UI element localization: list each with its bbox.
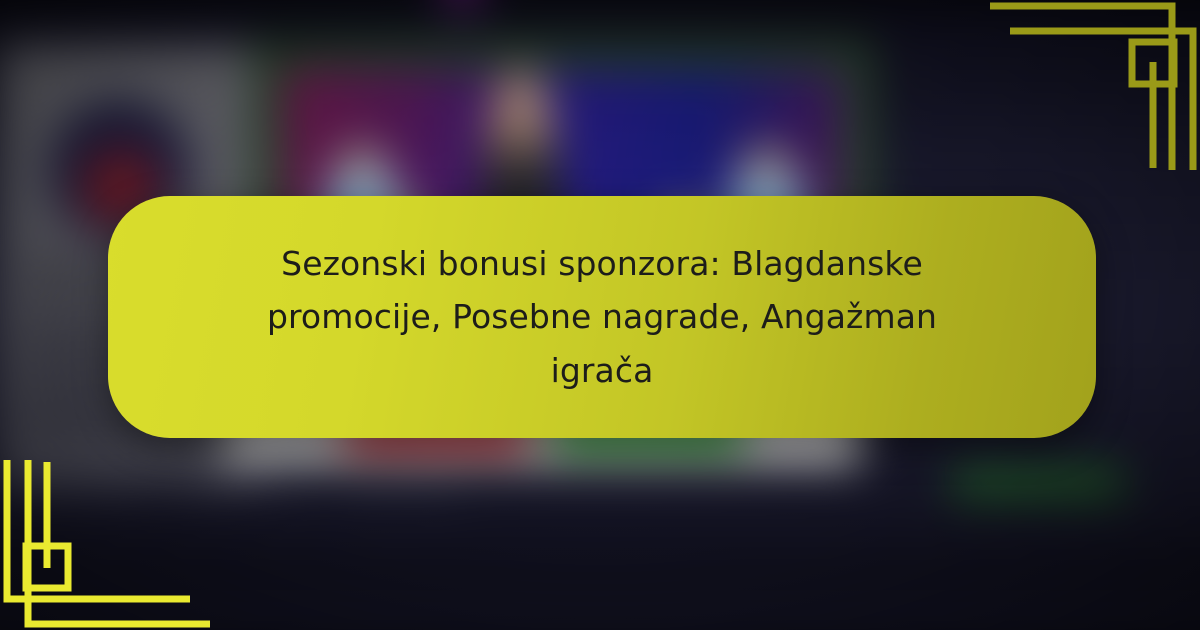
headline-text: Sezonski bonusi sponzora: Blagdanske pro… xyxy=(242,237,962,397)
headline-card: Sezonski bonusi sponzora: Blagdanske pro… xyxy=(108,196,1096,438)
background-tab-line xyxy=(180,480,310,494)
background-spotlight xyxy=(440,0,484,20)
background-bottom-bar xyxy=(0,598,1200,630)
share-card-canvas: Sezonski bonusi sponzora: Blagdanske pro… xyxy=(0,0,1200,630)
background-tab-line xyxy=(0,480,150,494)
background-continue-chip xyxy=(952,468,1124,498)
background-tab-line xyxy=(340,480,460,494)
